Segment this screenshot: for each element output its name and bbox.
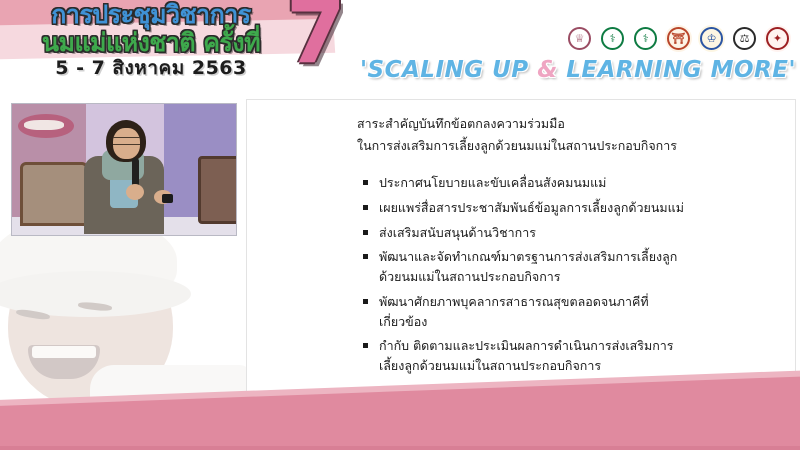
national-institute-logo: ✦ [764,25,791,52]
slide-heading-line-1: สาระสำคัญบันทึกข้อตกลงความร่วมมือ [357,113,677,135]
ministry-of-public-health-logo: ⚕ [599,25,626,52]
royal-crest-logo: ♔ [698,25,725,52]
royal-emblem-logo: ⛩ [665,25,692,52]
conference-title-line-2: นมแม่แห่งชาติ ครั้งที่ [16,30,286,55]
university-seal-logo: ⚖ [731,25,758,52]
square-bullet-icon [363,230,368,235]
conference-tagline: 'SCALING UP & LEARNING MORE' [360,57,792,83]
list-item: กำกับ ติดตามและประเมินผลการดำเนินการส่งเ… [363,336,783,376]
tagline-ampersand: & [537,57,558,83]
department-of-health-logo: ⚕ [632,25,659,52]
list-item-line: พัฒนาและจัดทำเกณฑ์มาตรฐานการส่งเสริมการเ… [379,247,783,267]
bottom-edge-strip [0,446,800,450]
sponsor-logo-strip: ♕ ⚕ ⚕ ⛩ ♔ ⚖ ✦ ส ส ส สสส [566,25,800,52]
list-item: เผยแพร่สื่อสารประชาสัมพันธ์ข้อมูลการเลี้… [363,198,783,218]
list-item-line: กำกับ ติดตามและประเมินผลการดำเนินการส่งเ… [379,336,783,356]
conference-title-block: การประชุมวิชาการ นมแม่แห่งชาติ ครั้งที่ … [16,2,286,78]
square-bullet-icon [363,254,368,259]
slide-bullet-list: ประกาศนโยบายและขับเคลื่อนสังคมนมแม่ เผยแ… [363,173,783,381]
list-item-line: เกี่ยวข้อง [379,312,783,332]
list-item: พัฒนาศักยภาพบุคลากรสาธารณสุขตลอดจนภาคีที… [363,292,783,332]
tagline-part-2: LEARNING MORE' [558,57,796,83]
list-item-line: ประกาศนโยบายและขับเคลื่อนสังคมนมแม่ [379,173,783,193]
list-item-line: พัฒนาศักยภาพบุคลากรสาธารณสุขตลอดจนภาคีที… [379,292,783,312]
tagline-part-1: 'SCALING UP [360,57,537,83]
list-item: ส่งเสริมสนับสนุนด้านวิชาการ [363,223,783,243]
thai-breastfeeding-foundation-logo: ♕ [566,25,593,52]
slide-heading: สาระสำคัญบันทึกข้อตกลงความร่วมมือ ในการส… [357,113,677,157]
square-bullet-icon [363,205,368,210]
edition-number-seven: 7 [286,0,346,76]
list-item: พัฒนาและจัดทำเกณฑ์มาตรฐานการส่งเสริมการเ… [363,247,783,287]
square-bullet-icon [363,180,368,185]
speaker-video-feed[interactable] [11,103,237,236]
presentation-slide-panel: สาระสำคัญบันทึกข้อตกลงความร่วมมือ ในการส… [246,99,796,419]
square-bullet-icon [363,299,368,304]
slide-heading-line-2: ในการส่งเสริมการเลี้ยงลูกด้วยนมแม่ในสถาน… [357,135,677,157]
conference-date: 5 - 7 สิงหาคม 2563 [16,59,286,78]
list-item: ประกาศนโยบายและขับเคลื่อนสังคมนมแม่ [363,173,783,193]
slide-body-area: สาระสำคัญบันทึกข้อตกลงความร่วมมือ ในการส… [0,95,800,450]
conference-title-line-1: การประชุมวิชาการ [16,2,286,27]
list-item-line: ด้วยนมแม่ในสถานประกอบกิจการ [379,267,783,287]
square-bullet-icon [363,343,368,348]
list-item-line: เผยแพร่สื่อสารประชาสัมพันธ์ข้อมูลการเลี้… [379,198,783,218]
list-item-line: ส่งเสริมสนับสนุนด้านวิชาการ [379,223,783,243]
slide-screenshot: การประชุมวิชาการ นมแม่แห่งชาติ ครั้งที่ … [0,0,800,450]
